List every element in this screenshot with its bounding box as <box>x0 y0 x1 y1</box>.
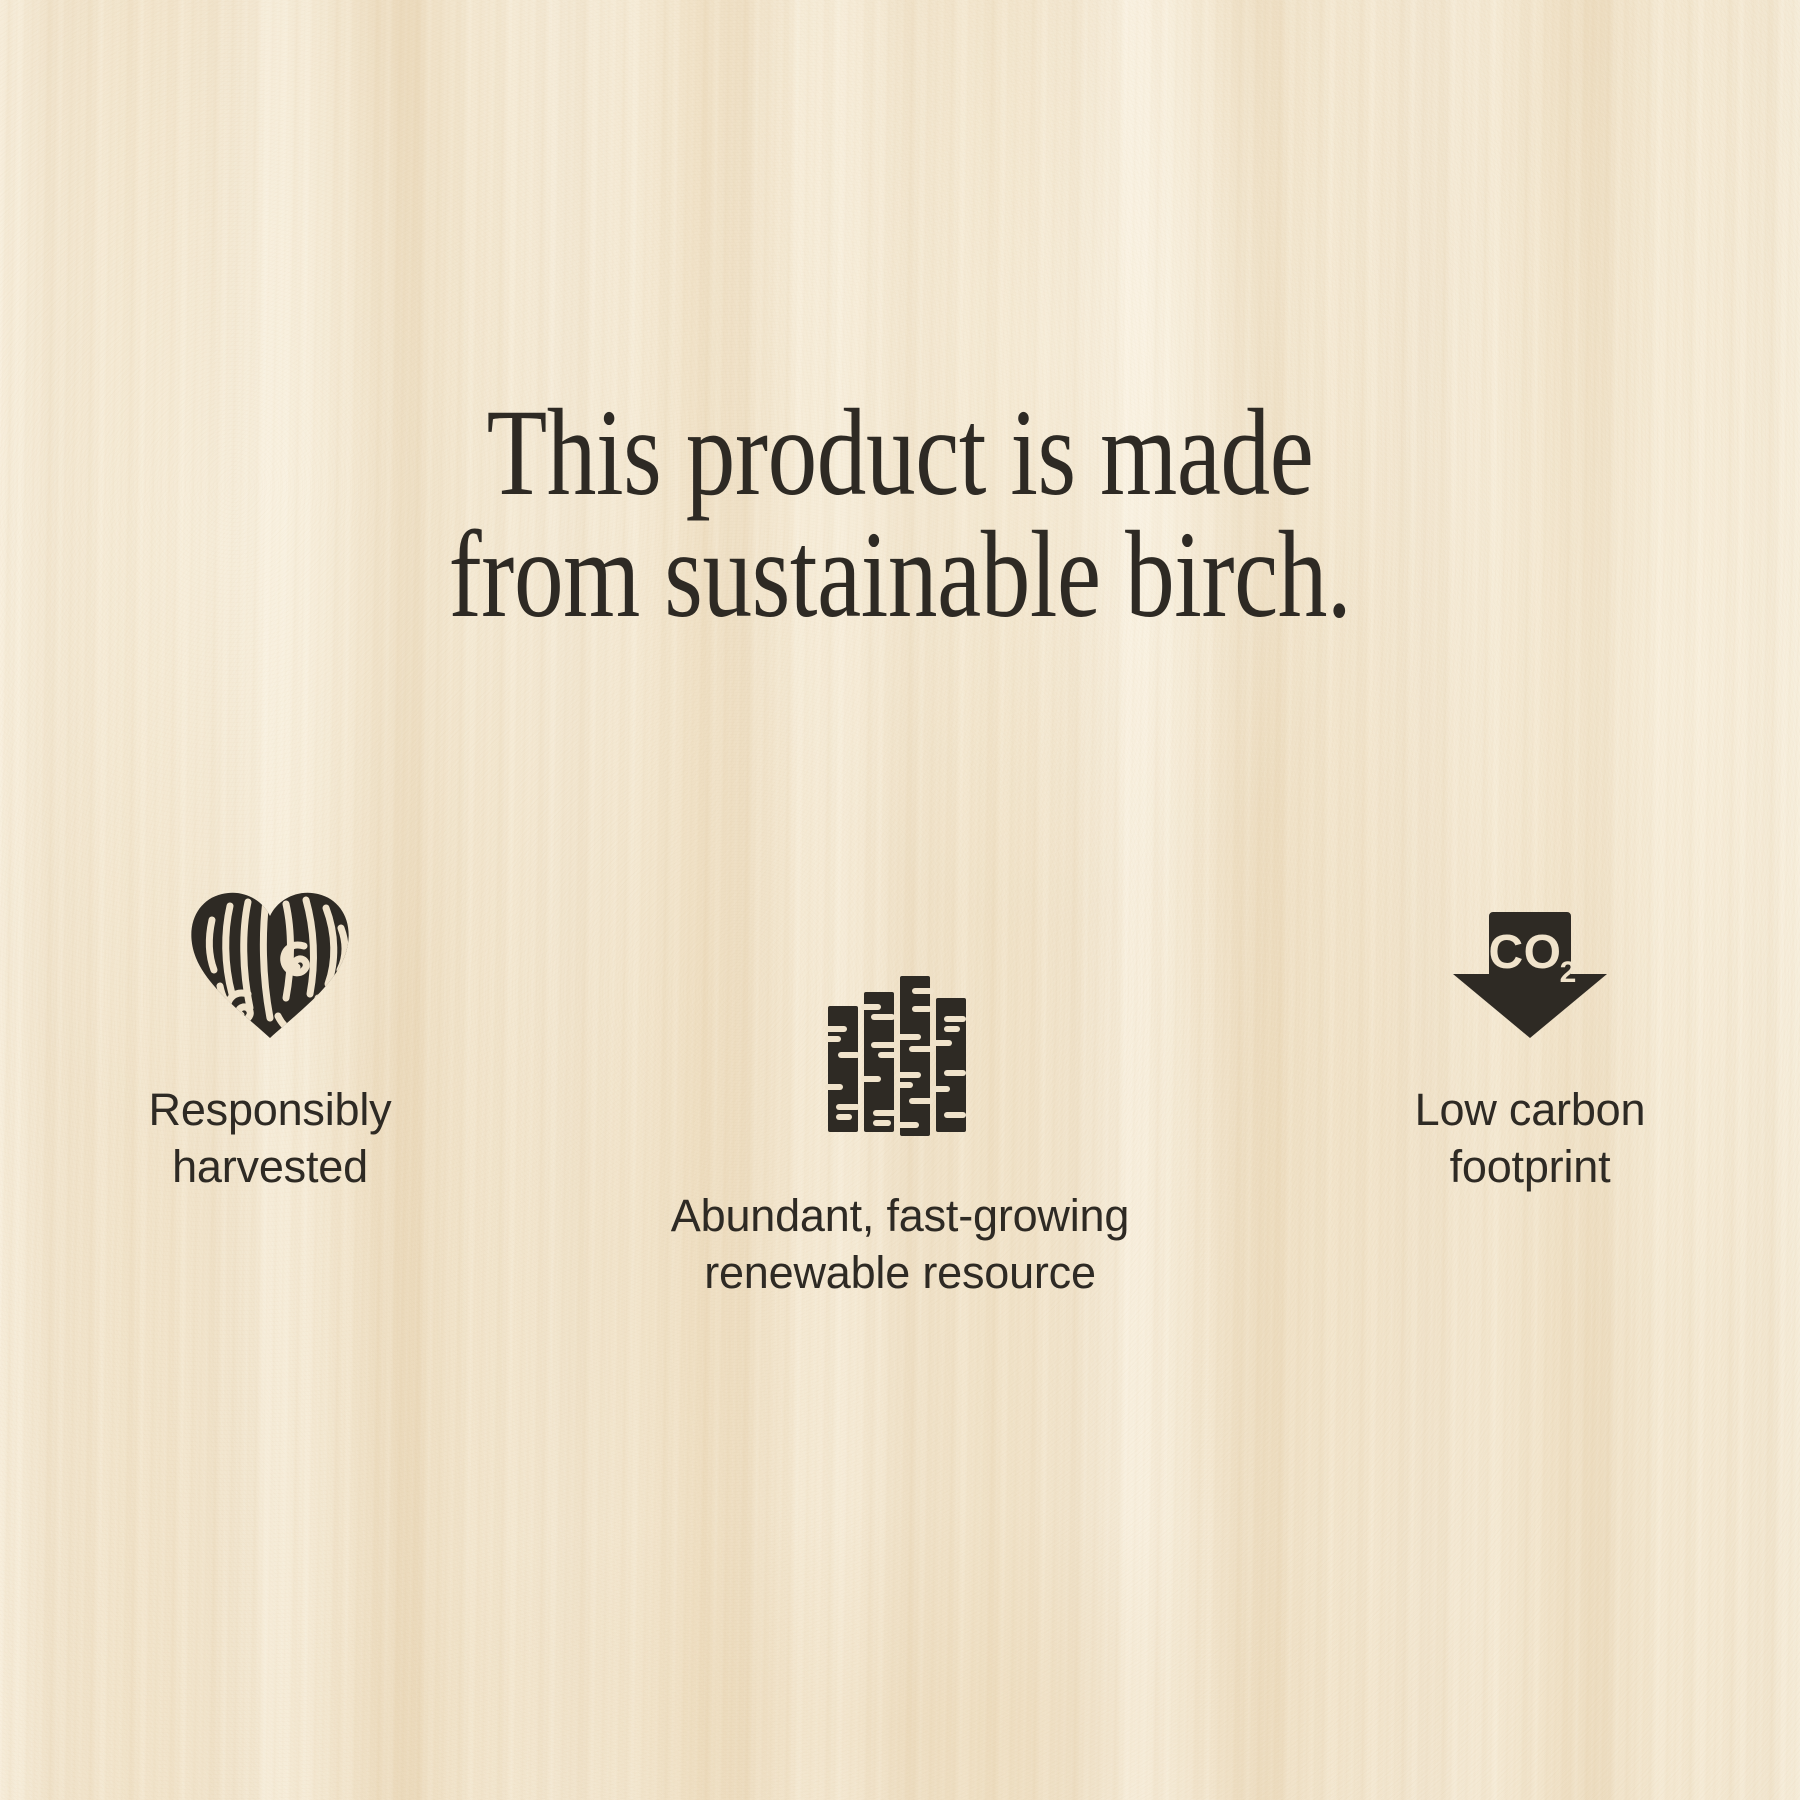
co2-label: CO <box>1489 926 1562 979</box>
headline-line-1: This product is made <box>180 392 1620 514</box>
birch-trunks-icon <box>824 972 976 1140</box>
wood-grain-heart-icon <box>186 890 354 1040</box>
feature-caption: Low carbon footprint <box>1345 1082 1715 1195</box>
co2-down-arrow-icon: CO 2 <box>1449 912 1611 1040</box>
product-sustainability-card: This product is made from sustainable bi… <box>0 0 1800 1800</box>
headline-line-2: from sustainable birch. <box>180 514 1620 636</box>
feature-responsibly-harvested: Responsibly harvested <box>85 880 455 1195</box>
headline: This product is made from sustainable bi… <box>180 392 1620 635</box>
icon-container <box>600 920 1200 1140</box>
feature-low-carbon-footprint: CO 2 Low carbon footprint <box>1345 880 1715 1195</box>
feature-list: Responsibly harvested <box>0 880 1800 1360</box>
feature-renewable-resource: Abundant, fast-growing renewable resourc… <box>600 920 1200 1301</box>
icon-container: CO 2 <box>1345 880 1715 1040</box>
feature-caption: Abundant, fast-growing renewable resourc… <box>600 1188 1200 1301</box>
feature-caption: Responsibly harvested <box>85 1082 455 1195</box>
icon-container <box>85 880 455 1040</box>
co2-subscript: 2 <box>1560 956 1577 989</box>
